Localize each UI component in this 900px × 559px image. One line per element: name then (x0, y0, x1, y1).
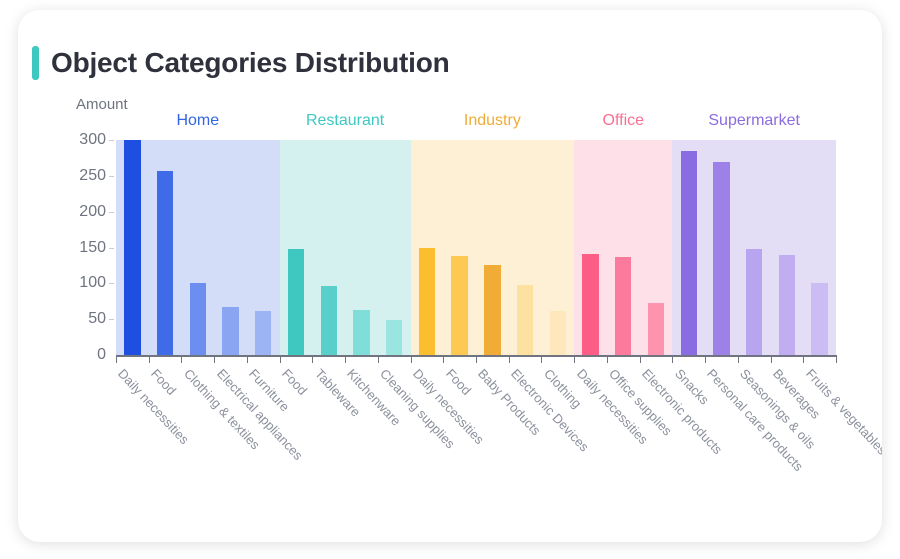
bar[interactable] (582, 254, 598, 355)
x-tick-mark (672, 355, 673, 363)
x-tick-mark (705, 355, 706, 363)
group-label-restaurant: Restaurant (306, 112, 384, 130)
bar[interactable] (811, 283, 827, 355)
x-tick-mark (443, 355, 444, 363)
bar[interactable] (779, 255, 795, 355)
bar[interactable] (353, 310, 369, 355)
group-label-office: Office (603, 112, 645, 130)
x-tick-mark (541, 355, 542, 363)
bar[interactable] (386, 320, 402, 355)
y-tick-mark (109, 212, 114, 213)
bar[interactable] (288, 249, 304, 355)
bar[interactable] (615, 257, 631, 355)
bar[interactable] (517, 285, 533, 355)
bar[interactable] (321, 286, 337, 355)
plot-area: HomeRestaurantIndustryOfficeSupermarket (116, 140, 836, 355)
bar[interactable] (648, 303, 664, 355)
x-tick-mark (738, 355, 739, 363)
y-tick-label: 50 (88, 310, 106, 328)
x-tick-mark (181, 355, 182, 363)
bar[interactable] (419, 248, 435, 356)
y-tick-label: 150 (79, 239, 106, 257)
x-tick-mark (247, 355, 248, 363)
x-tick-mark (803, 355, 804, 363)
y-tick-label: 250 (79, 167, 106, 185)
y-tick-label: 0 (97, 346, 106, 364)
x-tick-mark (640, 355, 641, 363)
y-tick-label: 200 (79, 203, 106, 221)
y-tick-mark (109, 248, 114, 249)
bar[interactable] (746, 249, 762, 355)
bar[interactable] (157, 171, 173, 355)
x-tick-label: Food (148, 366, 179, 398)
y-axis-labels: 050100150200250300 (18, 10, 116, 542)
group-label-home: Home (176, 112, 219, 130)
bar[interactable] (713, 162, 729, 356)
x-tick-mark (574, 355, 575, 363)
bar[interactable] (550, 311, 566, 355)
y-tick-mark (109, 176, 114, 177)
bar[interactable] (681, 151, 697, 355)
y-tick-mark (109, 319, 114, 320)
x-tick-mark (836, 355, 837, 363)
x-tick-mark (509, 355, 510, 363)
y-tick-label: 100 (79, 274, 106, 292)
x-tick-mark (378, 355, 379, 363)
x-tick-mark (280, 355, 281, 363)
x-tick-mark (476, 355, 477, 363)
bar[interactable] (484, 265, 500, 355)
group-label-supermarket: Supermarket (708, 112, 800, 130)
y-tick-label: 300 (79, 131, 106, 149)
x-tick-label: Food (443, 366, 474, 398)
x-tick-mark (214, 355, 215, 363)
x-tick-mark (411, 355, 412, 363)
x-tick-mark (607, 355, 608, 363)
y-tick-mark (109, 283, 114, 284)
x-tick-mark (312, 355, 313, 363)
x-tick-mark (116, 355, 117, 363)
bar[interactable] (222, 307, 238, 355)
group-label-industry: Industry (464, 112, 521, 130)
x-tick-label: Food (279, 366, 310, 398)
y-tick-mark (109, 140, 114, 141)
bar[interactable] (451, 256, 467, 355)
bar[interactable] (255, 311, 271, 355)
x-tick-mark (771, 355, 772, 363)
chart-card: Object Categories Distribution Amount 05… (18, 10, 882, 542)
bar[interactable] (190, 283, 206, 355)
bar[interactable] (124, 140, 140, 355)
x-tick-mark (149, 355, 150, 363)
x-tick-mark (345, 355, 346, 363)
